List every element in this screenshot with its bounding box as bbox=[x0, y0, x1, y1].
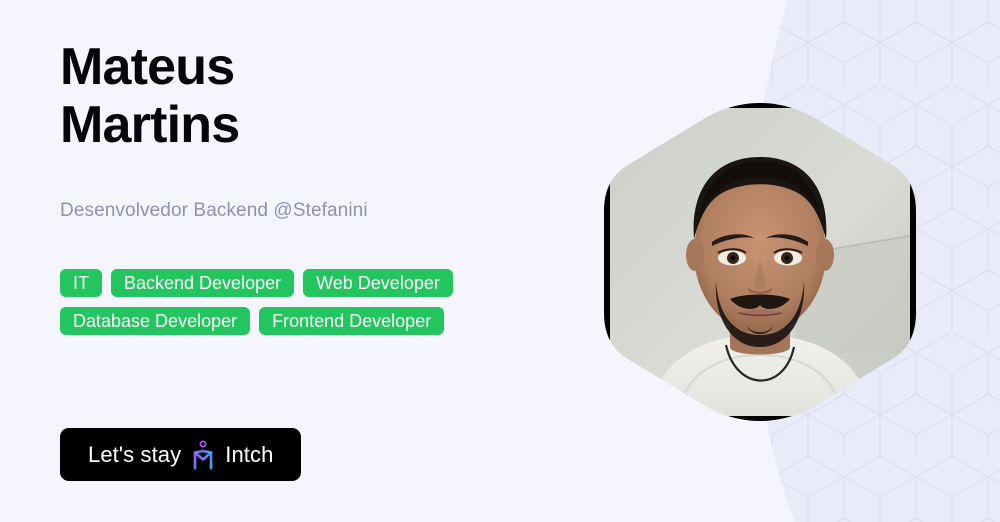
headline: Desenvolvedor Backend @Stefanini bbox=[60, 198, 368, 224]
profile-content: Mateus Martins Desenvolvedor Backend @St… bbox=[60, 0, 720, 522]
profile-card: Mateus Martins Desenvolvedor Backend @St… bbox=[0, 0, 1000, 522]
tag-item[interactable]: Backend Developer bbox=[111, 269, 294, 297]
cta-label-before: Let's stay bbox=[88, 442, 181, 468]
tag-list: IT Backend Developer Web Developer Datab… bbox=[60, 269, 580, 335]
tag-item[interactable]: Frontend Developer bbox=[259, 307, 444, 335]
cta-label-after: Intch bbox=[225, 442, 273, 468]
tag-item[interactable]: Web Developer bbox=[303, 269, 453, 297]
tag-item[interactable]: IT bbox=[60, 269, 102, 297]
tag-item[interactable]: Database Developer bbox=[60, 307, 250, 335]
intch-logo-icon bbox=[190, 440, 216, 470]
lets-stay-intch-button[interactable]: Let's stay Intch bbox=[60, 428, 301, 481]
page-title: Mateus Martins bbox=[60, 38, 239, 154]
